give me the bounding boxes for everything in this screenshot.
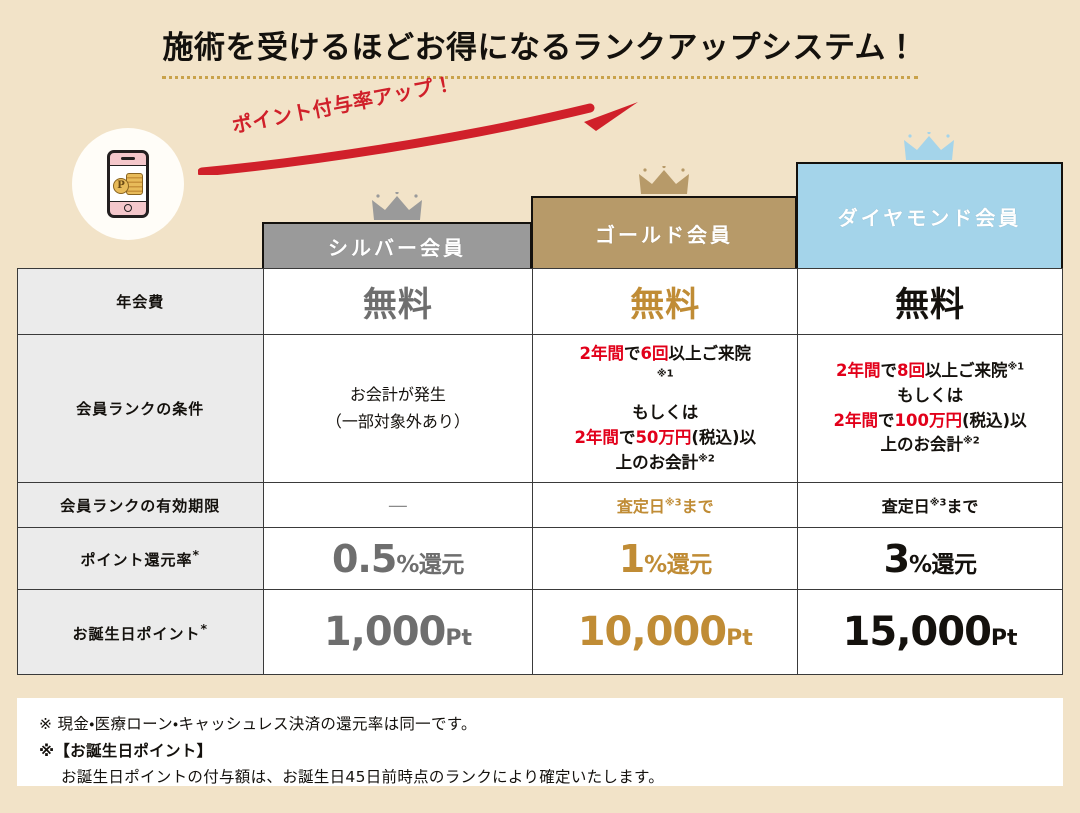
diamond-cond-tax: (税込)以 [962,411,1027,430]
footnotes-box: ※ 現金・医療ローン・キャッシュレス決済の還元率は同一です。 ※【お誕生日ポイン… [17,698,1063,786]
birthday-gold-value: 10,000 [578,609,726,655]
footnote-line-2: ※【お誕生日ポイント】 [39,738,1041,765]
diamond-cond-visits: 8回 [897,361,925,380]
point-rate-silver-unit: %還元 [396,552,464,578]
table-row-conditions: 会員ランクの条件 お会計が発生 （一部対象外あり） 2年間で6回以上ご来院 ※1… [18,335,1063,483]
smartphone-points-icon: P [72,128,184,240]
rank-comparison-table: 年会費 無料 無料 無料 会員ランクの条件 お会計が発生 （一部対象外あり） [17,268,1063,675]
diamond-cond-amount: 100万円 [895,411,962,430]
phone-body: P [107,150,149,218]
table-row-birthday-points: お誕生日ポイント* 1,000Pt 10,000Pt 15,000Pt [18,590,1063,675]
value-annual-fee-gold: 無料 [630,285,700,325]
conditions-gold-text: 2年間で6回以上ご来院 ※1 もしくは 2年間で50万円(税込)以 上のお会計※… [539,342,791,476]
phone-screen: P [110,165,146,202]
rank-header-diamond: ダイヤモンド会員 [796,162,1063,270]
gold-cond-tax: (税込)以 [691,428,756,447]
value-point-rate-silver: 0.5%還元 [332,557,464,576]
crown-icon-silver [370,192,424,222]
validity-gold-suffix: まで [682,497,714,516]
validity-diamond-mark: ※3 [930,498,947,509]
point-rate-diamond-value: 3 [884,537,909,581]
row-label-conditions: 会員ランクの条件 [18,335,264,483]
table-row-point-rate: ポイント還元率* 0.5%還元 1%還元 3%還元 [18,528,1063,590]
point-rate-label-text: ポイント還元率 [80,551,192,569]
point-rate-label-mark: * [193,547,201,562]
value-validity-silver: — [389,495,407,515]
rank-system-infographic: 施術を受けるほどお得になるランクアップシステム！ P ポイント付与率アップ！ [0,0,1080,813]
birthday-silver-unit: Pt [445,626,472,651]
phone-speaker [121,157,135,160]
point-rate-silver-value: 0.5 [332,537,396,581]
gold-cond-years2: 2年間 [574,428,618,447]
cell-conditions-silver: お会計が発生 （一部対象外あり） [263,335,533,483]
table-row-annual-fee: 年会費 無料 無料 無料 [18,269,1063,335]
row-label-point-rate: ポイント還元率* [18,528,264,590]
birthday-silver-value: 1,000 [324,609,446,655]
crown-icon-diamond [902,132,956,162]
validity-gold-mark: ※3 [665,498,682,509]
rank-header-silver: シルバー会員 [262,222,532,270]
coin-stack-icon: P [113,173,143,195]
cell-point-rate-silver: 0.5%還元 [263,528,533,590]
cell-birthday-points-diamond: 15,000Pt [798,590,1063,675]
diamond-cond-years2: 2年間 [834,411,878,430]
diamond-cond-mark2: ※2 [963,436,980,447]
footnote-line-1: ※ 現金・医療ローン・キャッシュレス決済の還元率は同一です。 [39,711,1041,738]
diamond-cond-de2: で [878,411,895,430]
rank-header-gold: ゴールド会員 [531,196,797,270]
row-label-validity: 会員ランクの有効期限 [18,483,264,528]
gold-cond-account: 上のお会計 [616,453,699,472]
gold-cond-de2: で [619,428,636,447]
cell-point-rate-gold: 1%還元 [533,528,798,590]
gold-cond-amount: 50万円 [635,428,691,447]
cell-validity-diamond: 査定日※3まで [798,483,1063,528]
validity-gold-text: 査定日 [617,497,665,516]
validity-diamond-text: 査定日 [882,497,930,516]
cell-annual-fee-gold: 無料 [533,269,798,335]
point-coin: P [113,178,129,194]
gold-cond-or: もしくは [632,403,698,422]
point-rate-gold-value: 1 [619,537,644,581]
value-point-rate-diamond: 3%還元 [884,557,977,576]
birthday-gold-unit: Pt [726,626,753,651]
page-title: 施術を受けるほどお得になるランクアップシステム！ [162,22,917,79]
cell-conditions-gold: 2年間で6回以上ご来院 ※1 もしくは 2年間で50万円(税込)以 上のお会計※… [533,335,798,483]
diamond-cond-de: で [880,361,897,380]
cell-conditions-diamond: 2年間で8回以上ご来院※1 もしくは 2年間で100万円(税込)以 上のお会計※… [798,335,1063,483]
conditions-silver-text: お会計が発生 （一部対象外あり） [270,382,527,435]
conditions-silver-line2: （一部対象外あり） [326,412,470,431]
value-annual-fee-diamond: 無料 [895,285,965,325]
gold-cond-mark1: ※1 [657,369,674,380]
cell-point-rate-diamond: 3%還元 [798,528,1063,590]
footnote-line-3: お誕生日ポイントの付与額は、お誕生日45日前時点のランクにより確定いたします。 [39,764,1041,791]
point-rate-diamond-unit: %還元 [909,552,977,578]
gold-cond-visits-suffix: 以上ご来院 [668,344,751,363]
value-birthday-gold: 10,000Pt [578,630,753,649]
diamond-cond-visits-suffix: 以上ご来院 [925,361,1008,380]
table-row-validity: 会員ランクの有効期限 — 査定日※3まで 査定日※3まで [18,483,1063,528]
value-birthday-diamond: 15,000Pt [843,630,1018,649]
cell-validity-silver: — [263,483,533,528]
diamond-cond-or: もしくは [897,386,963,405]
birthday-label-text: お誕生日ポイント [72,625,200,643]
conditions-diamond-text: 2年間で8回以上ご来院※1 もしくは 2年間で100万円(税込)以 上のお会計※… [804,359,1056,458]
conditions-silver-line1: お会計が発生 [350,385,446,404]
diamond-cond-account: 上のお会計 [880,435,963,454]
cell-birthday-points-gold: 10,000Pt [533,590,798,675]
point-rate-gold-unit: %還元 [644,552,712,578]
page-title-wrap: 施術を受けるほどお得になるランクアップシステム！ [0,22,1080,79]
gold-cond-mark2: ※2 [698,453,715,464]
value-point-rate-gold: 1%還元 [619,557,712,576]
birthday-diamond-value: 15,000 [843,609,991,655]
diamond-cond-mark1: ※1 [1007,362,1024,373]
gold-cond-de: で [624,344,641,363]
value-validity-gold: 査定日※3まで [617,497,714,516]
gold-cond-visits: 6回 [640,344,668,363]
birthday-label-mark: * [201,621,209,636]
gold-cond-years: 2年間 [579,344,623,363]
birthday-diamond-unit: Pt [991,626,1018,651]
validity-diamond-suffix: まで [946,497,978,516]
value-birthday-silver: 1,000Pt [324,630,472,649]
row-label-annual-fee: 年会費 [18,269,264,335]
cell-annual-fee-diamond: 無料 [798,269,1063,335]
cell-birthday-points-silver: 1,000Pt [263,590,533,675]
value-annual-fee-silver: 無料 [363,285,433,325]
diamond-cond-years: 2年間 [836,361,880,380]
row-label-birthday-points: お誕生日ポイント* [18,590,264,675]
cell-annual-fee-silver: 無料 [263,269,533,335]
cell-validity-gold: 査定日※3まで [533,483,798,528]
phone-home-button [124,204,132,212]
crown-icon-gold [637,166,691,196]
value-validity-diamond: 査定日※3まで [882,497,979,516]
